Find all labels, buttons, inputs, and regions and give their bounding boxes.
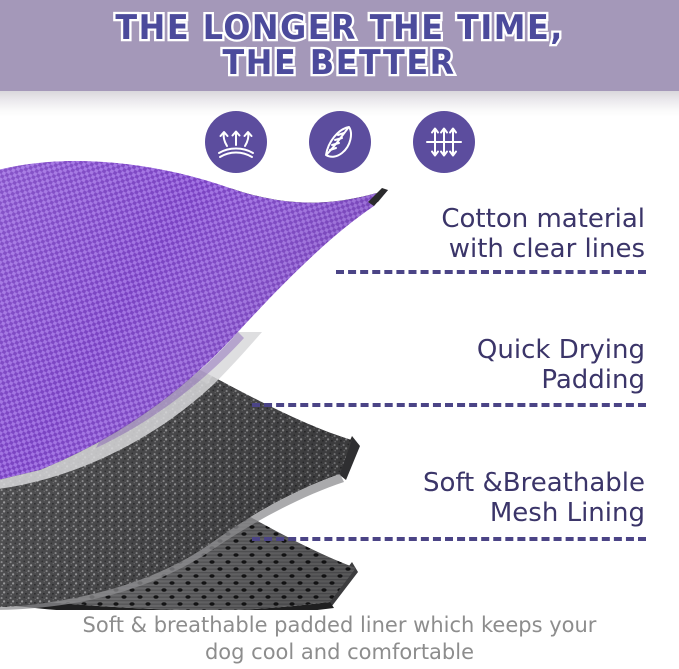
leader-line-padding	[252, 403, 646, 407]
bottom-caption-line2: dog cool and comfortable	[0, 639, 679, 666]
leader-line-mesh	[252, 537, 646, 541]
callout-mesh-lining: Soft &Breathable Mesh Lining	[325, 468, 645, 528]
feather-icon	[309, 111, 371, 173]
callout-mesh-line2: Mesh Lining	[325, 498, 645, 528]
product-infographic: THE LONGER THE TIME, THE BETTER	[0, 0, 679, 669]
air-permeability-arrows-icon	[413, 111, 475, 173]
feature-icons-row	[205, 110, 475, 174]
callout-quick-drying-padding: Quick Drying Padding	[325, 335, 645, 395]
callout-padding-line2: Padding	[325, 365, 645, 395]
callout-cotton-line2: with clear lines	[325, 234, 645, 264]
leader-line-cotton	[336, 270, 646, 274]
callout-mesh-line1: Soft &Breathable	[325, 468, 645, 498]
callout-cotton-material: Cotton material with clear lines	[325, 204, 645, 264]
bottom-caption: Soft & breathable padded liner which kee…	[0, 612, 679, 667]
callout-cotton-line1: Cotton material	[325, 204, 645, 234]
bottom-caption-line1: Soft & breathable padded liner which kee…	[0, 612, 679, 639]
breathability-arrows-icon	[205, 111, 267, 173]
header-banner	[0, 0, 679, 91]
callout-padding-line1: Quick Drying	[325, 335, 645, 365]
